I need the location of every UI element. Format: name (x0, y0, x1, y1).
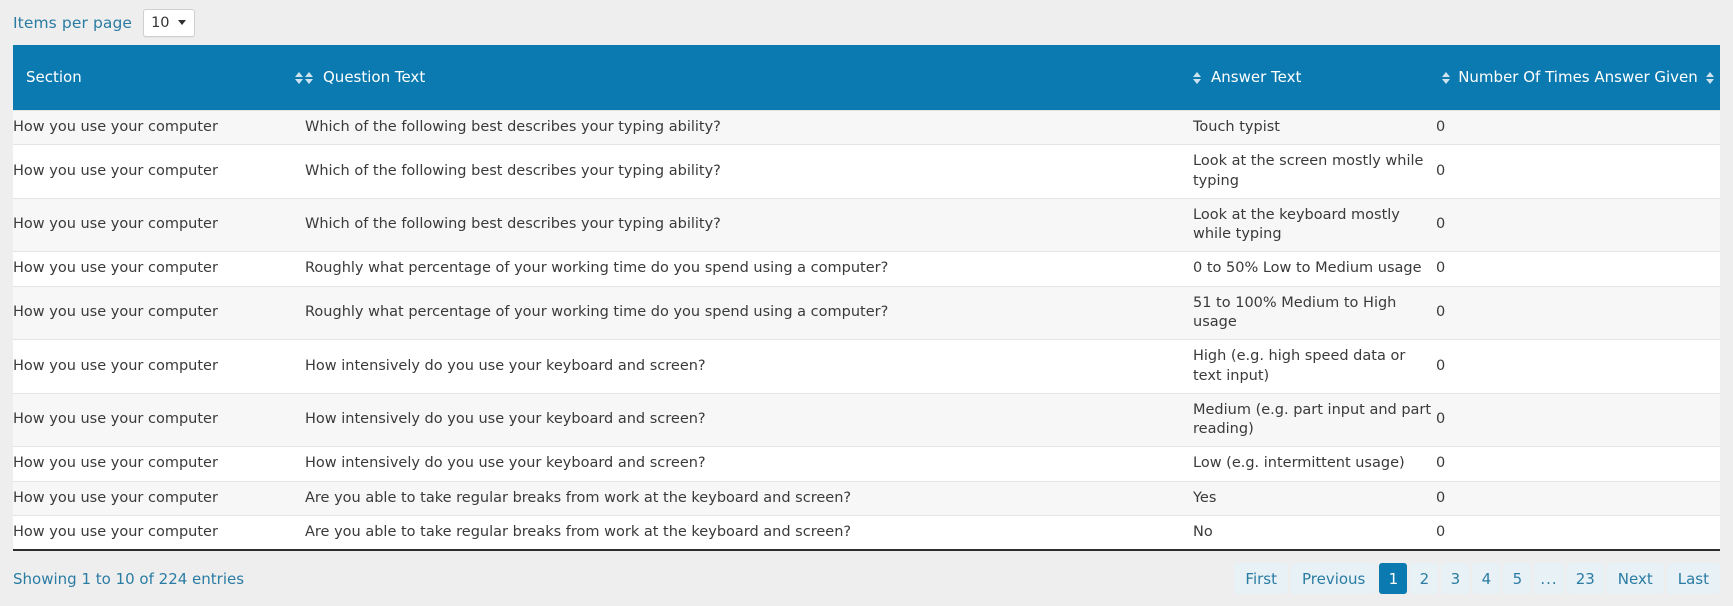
cell-question: Roughly what percentage of your working … (305, 286, 1193, 340)
column-header-section[interactable]: Section (13, 45, 305, 111)
cell-answer: Medium (e.g. part input and part reading… (1193, 393, 1436, 447)
cell-answer: Low (e.g. intermittent usage) (1193, 447, 1436, 481)
cell-question: Which of the following best describes yo… (305, 145, 1193, 199)
chevron-down-icon (178, 20, 186, 25)
cell-question: Which of the following best describes yo… (305, 111, 1193, 145)
table-row: How you use your computer Roughly what p… (13, 286, 1720, 340)
table-row: How you use your computer Which of the f… (13, 111, 1720, 145)
cell-answer: High (e.g. high speed data or text input… (1193, 340, 1436, 394)
pagination-page-1[interactable]: 1 (1379, 563, 1407, 594)
table-header-row: Section Question Text (13, 45, 1720, 111)
cell-section: How you use your computer (13, 340, 305, 394)
table-row: How you use your computer How intensivel… (13, 340, 1720, 394)
sort-arrows-icon[interactable] (1442, 72, 1450, 84)
cell-answer: Touch typist (1193, 111, 1436, 145)
pagination-page-3[interactable]: 3 (1441, 563, 1469, 594)
table-row: How you use your computer Are you able t… (13, 481, 1720, 515)
items-per-page-control: Items per page 10 (0, 0, 1733, 45)
cell-count: 0 (1436, 481, 1720, 515)
table-row: How you use your computer Which of the f… (13, 145, 1720, 199)
cell-question: Roughly what percentage of your working … (305, 252, 1193, 286)
cell-answer: Look at the screen mostly while typing (1193, 145, 1436, 199)
cell-count: 0 (1436, 447, 1720, 481)
cell-count: 0 (1436, 145, 1720, 199)
items-per-page-value: 10 (144, 15, 178, 31)
cell-section: How you use your computer (13, 286, 305, 340)
table-row: How you use your computer Which of the f… (13, 198, 1720, 252)
cell-count: 0 (1436, 286, 1720, 340)
cell-count: 0 (1436, 340, 1720, 394)
column-header-answer-count[interactable]: Number Of Times Answer Given (1436, 45, 1720, 111)
cell-section: How you use your computer (13, 481, 305, 515)
pagination-last[interactable]: Last (1667, 563, 1720, 594)
cell-question: How intensively do you use your keyboard… (305, 447, 1193, 481)
cell-answer: 51 to 100% Medium to High usage (1193, 286, 1436, 340)
cell-section: How you use your computer (13, 393, 305, 447)
pagination-first[interactable]: First (1234, 563, 1288, 594)
sort-arrows-icon[interactable] (1706, 72, 1714, 84)
cell-answer: Look at the keyboard mostly while typing (1193, 198, 1436, 252)
sort-arrows-icon[interactable] (1193, 72, 1201, 84)
pagination-page-23[interactable]: 23 (1567, 563, 1604, 594)
showing-entries-label: Showing 1 to 10 of 224 entries (13, 570, 244, 588)
table-footer: Showing 1 to 10 of 224 entries First Pre… (0, 551, 1733, 606)
results-table: Section Question Text (13, 45, 1720, 549)
column-header-question-text-label: Question Text (323, 68, 425, 87)
cell-question: How intensively do you use your keyboard… (305, 340, 1193, 394)
cell-question: Are you able to take regular breaks from… (305, 481, 1193, 515)
column-header-section-label: Section (26, 68, 82, 87)
pagination-page-4[interactable]: 4 (1472, 563, 1500, 594)
cell-section: How you use your computer (13, 198, 305, 252)
cell-section: How you use your computer (13, 252, 305, 286)
cell-answer: Yes (1193, 481, 1436, 515)
cell-count: 0 (1436, 198, 1720, 252)
sort-arrows-icon[interactable] (305, 72, 313, 84)
cell-question: How intensively do you use your keyboard… (305, 393, 1193, 447)
cell-count: 0 (1436, 111, 1720, 145)
cell-section: How you use your computer (13, 111, 305, 145)
cell-count: 0 (1436, 252, 1720, 286)
table-header: Section Question Text (13, 45, 1720, 111)
pagination-ellipsis: ... (1534, 563, 1563, 594)
results-table-container: Section Question Text (13, 45, 1720, 551)
table-row: How you use your computer Roughly what p… (13, 252, 1720, 286)
items-per-page-label: Items per page (13, 14, 132, 32)
report-page: Items per page 10 Section (0, 0, 1733, 521)
cell-count: 0 (1436, 393, 1720, 447)
column-header-question-text[interactable]: Question Text (305, 45, 1193, 111)
pagination-next[interactable]: Next (1607, 563, 1664, 594)
cell-answer: 0 to 50% Low to Medium usage (1193, 252, 1436, 286)
pagination-page-2[interactable]: 2 (1410, 563, 1438, 594)
table-body: How you use your computer Which of the f… (13, 111, 1720, 550)
table-row: How you use your computer How intensivel… (13, 447, 1720, 481)
table-row: How you use your computer How intensivel… (13, 393, 1720, 447)
pagination-page-5[interactable]: 5 (1503, 563, 1531, 594)
cell-section: How you use your computer (13, 447, 305, 481)
sort-arrows-icon[interactable] (295, 72, 303, 84)
column-header-answer-text-label: Answer Text (1211, 68, 1301, 87)
column-header-answer-text[interactable]: Answer Text (1193, 45, 1436, 111)
pagination: First Previous 1 2 3 4 5 ... 23 Next Las… (1234, 563, 1720, 594)
cell-section: How you use your computer (13, 145, 305, 199)
pagination-previous[interactable]: Previous (1291, 563, 1376, 594)
items-per-page-select[interactable]: 10 (143, 9, 195, 37)
column-header-answer-count-label: Number Of Times Answer Given (1458, 68, 1698, 87)
cell-question: Which of the following best describes yo… (305, 198, 1193, 252)
